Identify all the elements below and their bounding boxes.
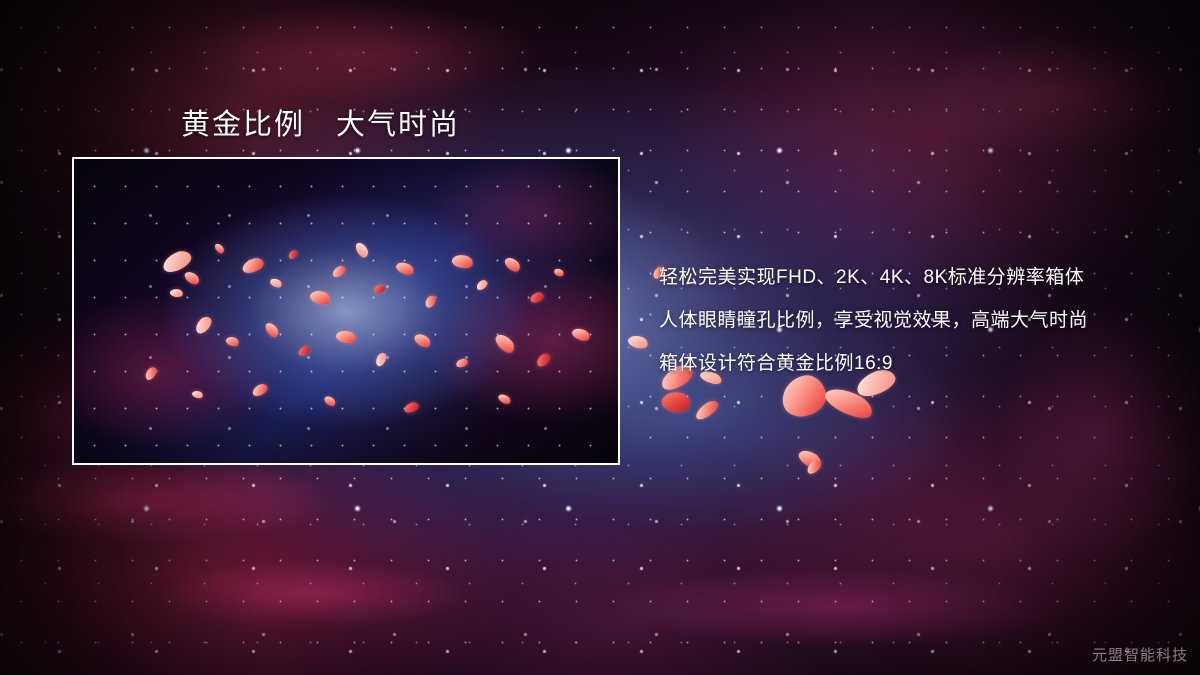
petal bbox=[796, 446, 824, 471]
petal bbox=[822, 382, 877, 424]
body-line-2: 人体眼睛瞳孔比例，享受视觉效果，高端大气时尚 bbox=[659, 299, 1179, 342]
presentation-slide: 黄金比例 大气时尚 轻松完美实现FHD、2K、4K、8K标准分辨率箱体 人体眼睛… bbox=[0, 0, 1200, 675]
body-line-1: 轻松完美实现FHD、2K、4K、8K标准分辨率箱体 bbox=[659, 256, 1179, 299]
page-title: 黄金比例 大气时尚 bbox=[181, 101, 460, 143]
body-line-3: 箱体设计符合黄金比例16:9 bbox=[659, 342, 1179, 385]
petal bbox=[627, 333, 650, 351]
watermark: 元盟智能科技 bbox=[1092, 644, 1188, 665]
petal bbox=[660, 389, 692, 414]
body-text-block: 轻松完美实现FHD、2K、4K、8K标准分辨率箱体 人体眼睛瞳孔比例，享受视觉效… bbox=[659, 256, 1179, 385]
framed-image-starfield bbox=[74, 159, 618, 463]
framed-image bbox=[72, 157, 620, 465]
petal bbox=[693, 398, 721, 422]
petal bbox=[805, 458, 824, 476]
